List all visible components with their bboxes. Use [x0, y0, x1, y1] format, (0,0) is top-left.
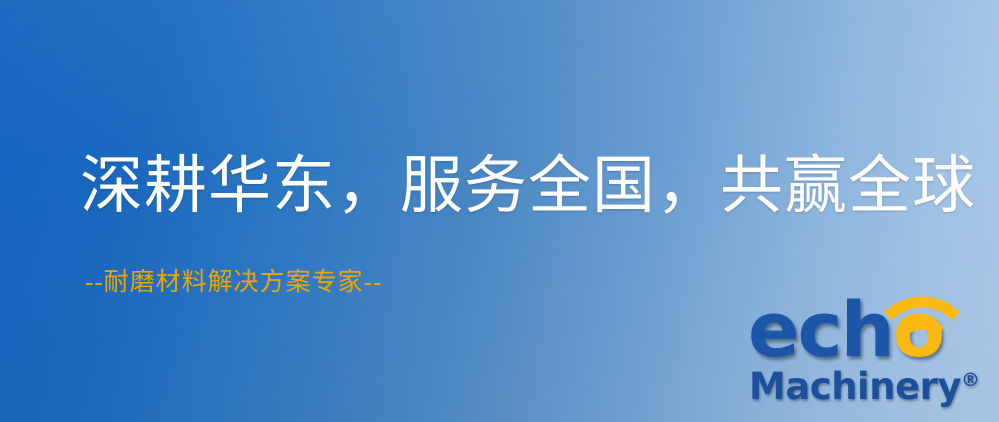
signal-waves-icon	[920, 290, 994, 354]
logo-tagline: Machinery®	[749, 368, 980, 405]
logo-tagline-text: Machinery	[749, 365, 961, 408]
company-logo[interactable]: echo Machinery®	[748, 292, 994, 418]
hero-banner: 深耕华东，服务全国，共赢全球 --耐磨材料解决方案专家-- echo Machi…	[0, 0, 999, 422]
registered-trademark-icon: ®	[961, 369, 980, 391]
banner-headline: 深耕华东，服务全国，共赢全球	[80, 152, 976, 220]
banner-subheadline: --耐磨材料解决方案专家--	[85, 268, 382, 298]
logo-wordmark-ech: ech	[748, 285, 893, 374]
